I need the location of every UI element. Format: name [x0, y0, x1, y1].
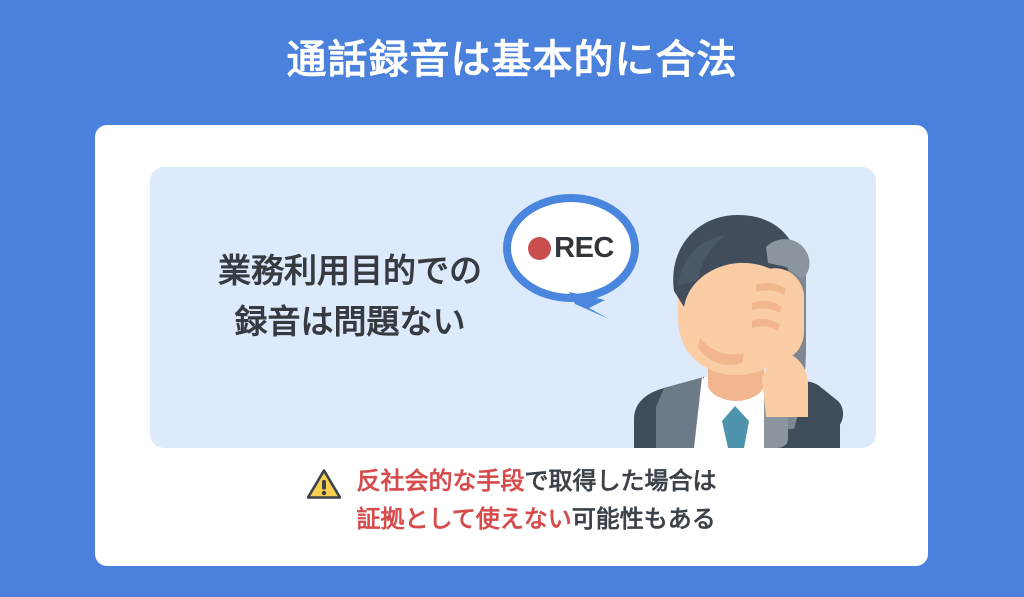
panel-headline: 業務利用目的での 録音は問題ない [180, 245, 520, 347]
panel-headline-line-1: 業務利用目的での [180, 245, 520, 296]
warning-line-2-highlight: 証拠として使えない [357, 506, 572, 533]
content-card: 業務利用目的での 録音は問題ない REC [95, 125, 928, 566]
record-dot-icon [528, 237, 551, 260]
warning-text: 反社会的な手段で取得した場合は 証拠として使えない可能性もある [357, 463, 717, 539]
businessman-figure [616, 207, 861, 448]
warning-note: 反社会的な手段で取得した場合は 証拠として使えない可能性もある [95, 463, 928, 539]
warning-triangle-icon [307, 469, 341, 500]
warning-line-2: 証拠として使えない可能性もある [357, 501, 717, 539]
warning-line-1-rest: で取得した場合は [525, 468, 717, 495]
panel-headline-line-2: 録音は問題ない [180, 296, 520, 347]
warning-line-1-highlight: 反社会的な手段 [357, 468, 525, 495]
warning-line-2-rest: 可能性もある [572, 506, 716, 533]
businessman-on-phone-illustration [616, 207, 861, 448]
info-panel: 業務利用目的での 録音は問題ない REC [150, 167, 876, 448]
warning-line-1: 反社会的な手段で取得した場合は [357, 463, 717, 501]
slide-root: 通話録音は基本的に合法 業務利用目的での 録音は問題ない REC [0, 0, 1024, 597]
rec-label: REC [554, 234, 614, 263]
page-title: 通話録音は基本的に合法 [0, 36, 1024, 84]
